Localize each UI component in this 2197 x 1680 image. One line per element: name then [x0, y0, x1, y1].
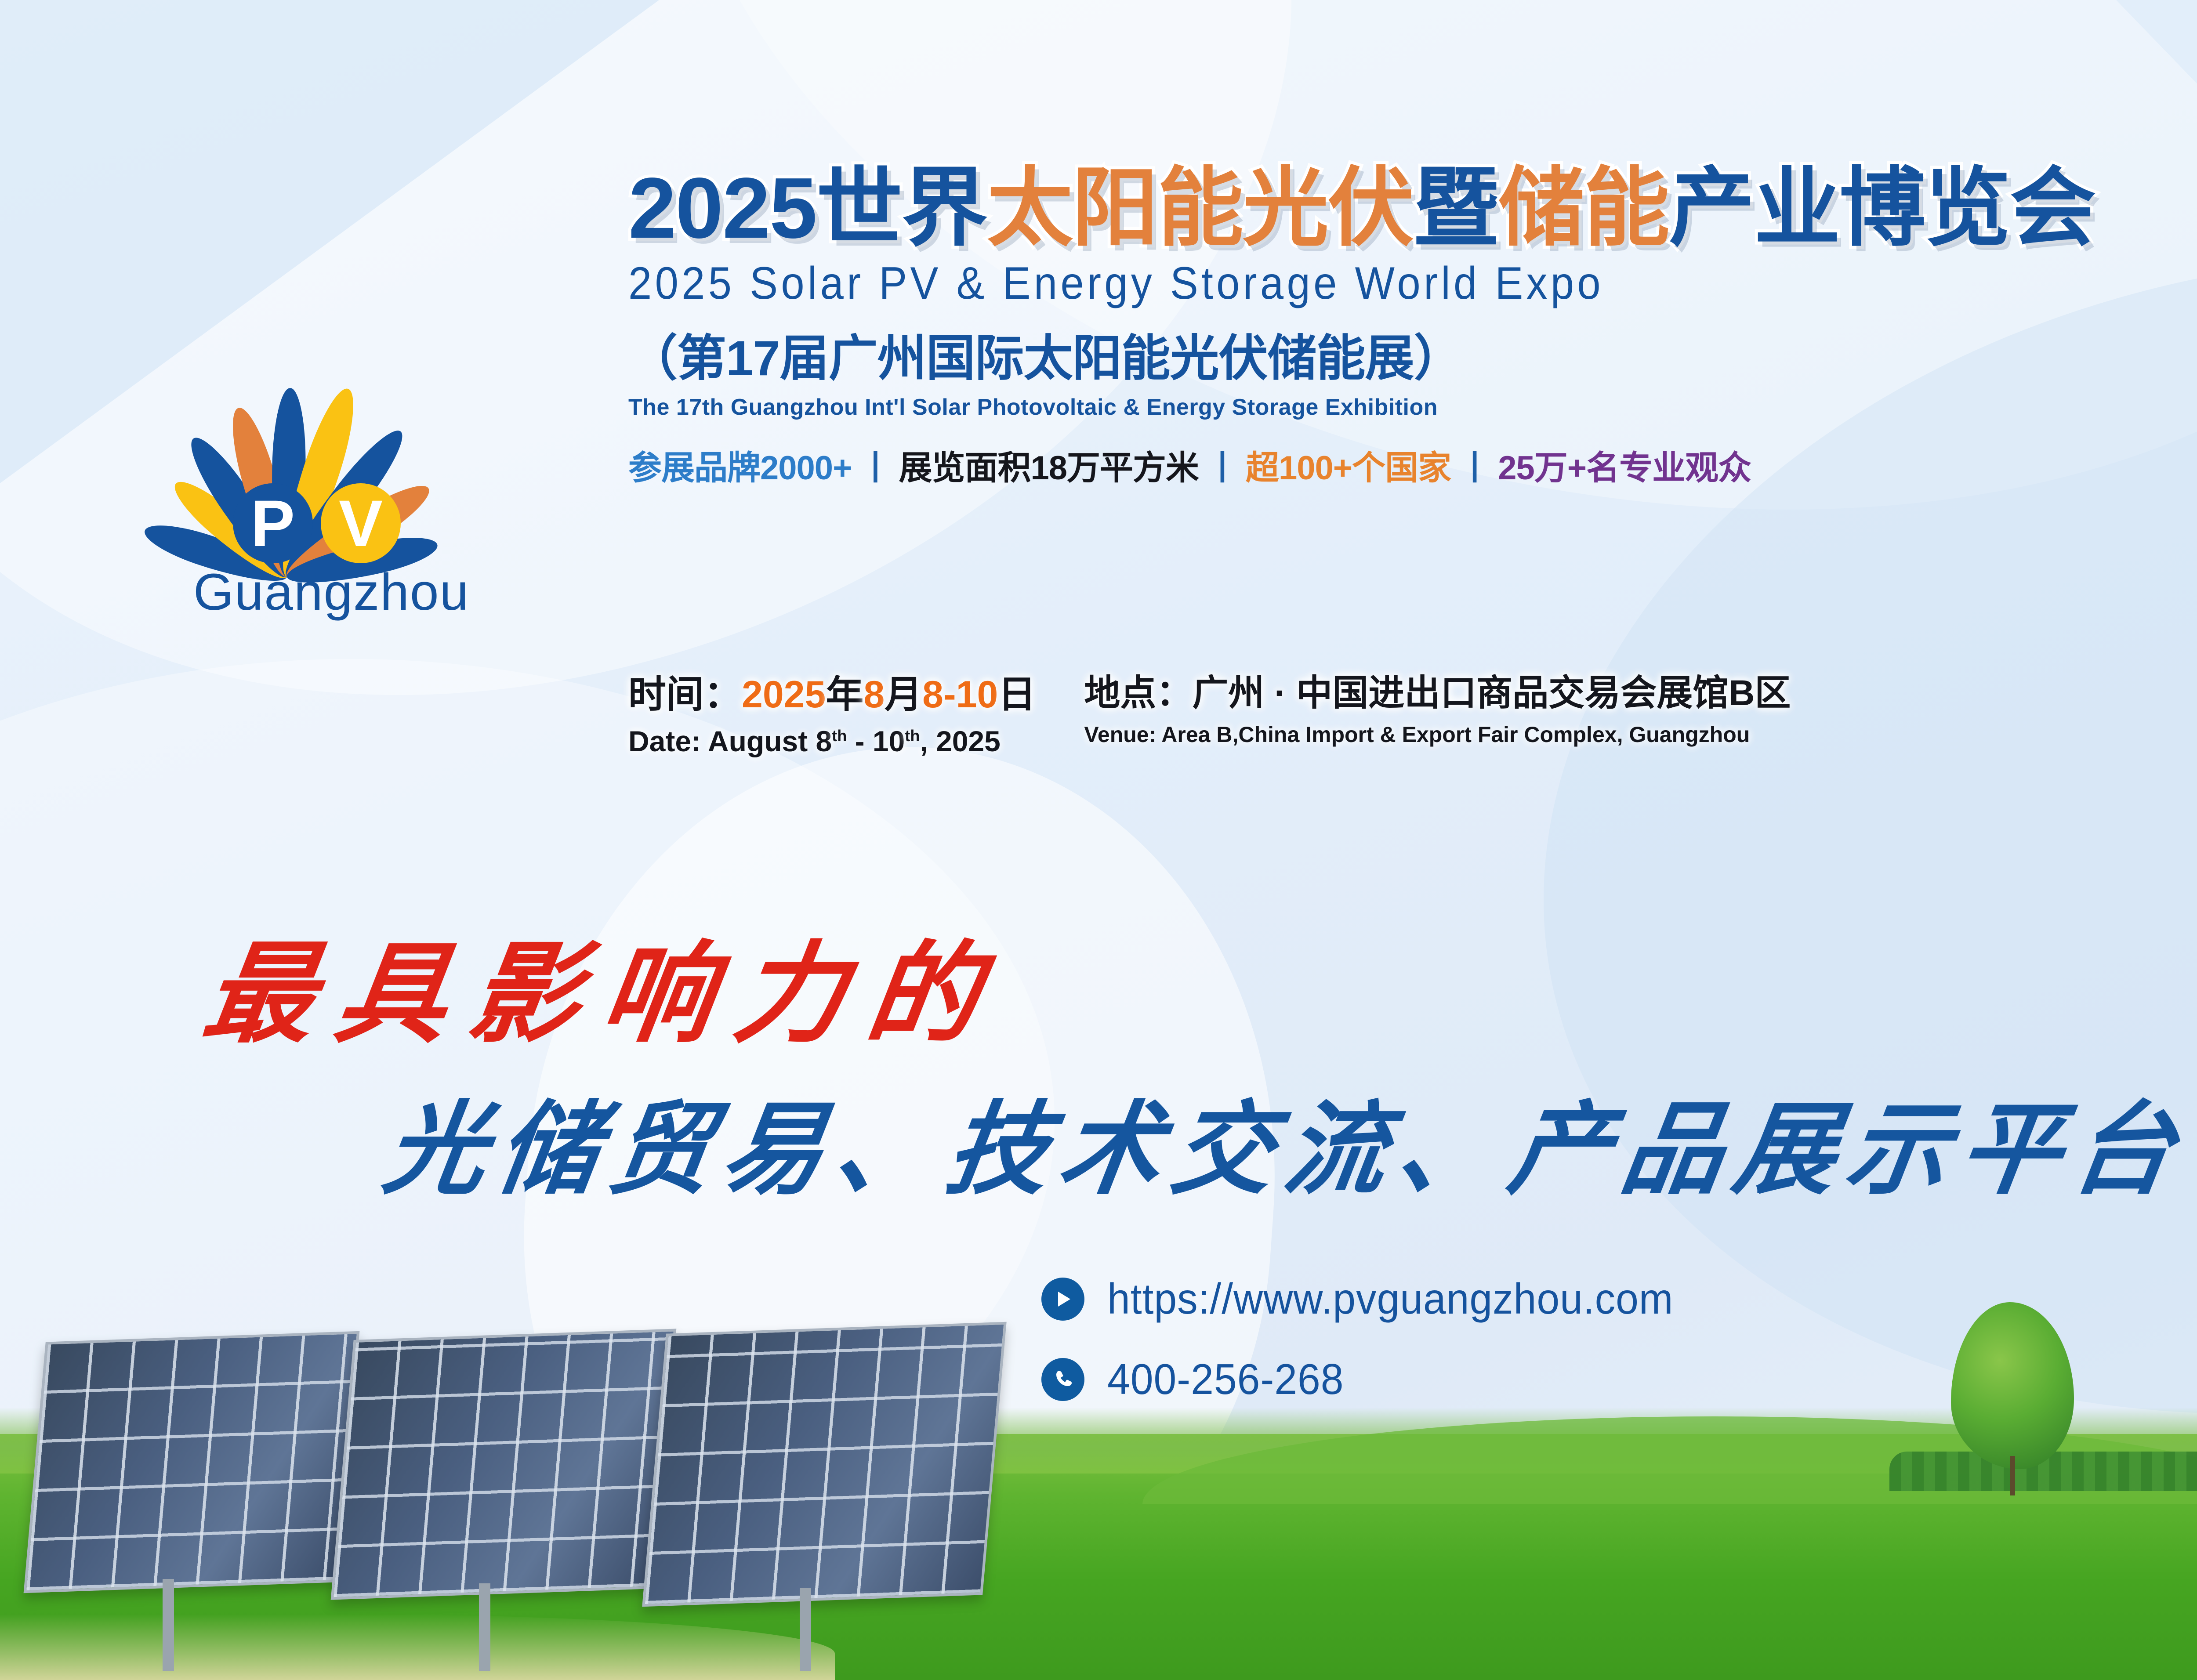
solar-panel-2	[331, 1329, 677, 1600]
date-en-sup-1: th	[832, 727, 847, 745]
date-month-unit: 月	[885, 673, 922, 716]
stats-separator-1: 丨	[852, 449, 899, 487]
main-title-cn: 2025世界太阳能光伏暨储能产业博览会	[628, 163, 2197, 254]
venue-label: 地点：	[1084, 673, 1192, 713]
solar-panel-post-3	[800, 1588, 811, 1671]
venue-line-cn: 地点：广州 · 中国进出口商品交易会展馆B区	[1084, 663, 1791, 716]
solar-panel-3	[642, 1322, 1006, 1607]
date-line-en: Date: August 8th - 10th, 2025	[628, 724, 1036, 758]
solar-panel-1	[24, 1331, 360, 1593]
date-block: 时间：2025年8月8-10日 Date: August 8th - 10th,…	[628, 663, 1036, 758]
pv-guangzhou-logo: P V Guangzhou	[48, 167, 567, 633]
logo-wordmark: Guangzhou	[193, 562, 469, 622]
date-days: 8-10	[922, 673, 998, 716]
stats-separator-2: 丨	[1199, 449, 1246, 487]
stat-visitors: 25万+名专业观众	[1498, 449, 1751, 487]
main-title-part-1: 2025世界	[628, 160, 987, 256]
venue-value: 广州 · 中国进出口商品交易会展馆B区	[1192, 673, 1791, 713]
website-row[interactable]: https://www.pvguangzhou.com	[1041, 1274, 1703, 1324]
date-year-unit: 年	[826, 673, 863, 716]
slogan-line-1: 最具影响力的	[196, 905, 1014, 1064]
date-line-cn: 时间：2025年8月8-10日	[628, 663, 1036, 718]
main-title-part-3: 暨	[1413, 160, 1498, 256]
solar-panel-post-1	[163, 1579, 174, 1671]
date-en-sup-2: th	[905, 727, 920, 745]
main-title-part-4: 储能	[1498, 160, 1669, 256]
stat-countries: 超100+个国家	[1246, 449, 1451, 487]
date-en-prefix: Date: August 8	[628, 725, 832, 757]
logo-letter-v-circle: V	[321, 483, 401, 563]
logo-letter-v: V	[339, 485, 383, 561]
date-en-mid: - 10	[847, 725, 905, 757]
subtitle-en: The 17th Guangzhou Int'l Solar Photovolt…	[628, 394, 2197, 420]
venue-line-en: Venue: Area B,China Import & Export Fair…	[1084, 722, 1791, 747]
headline-block: 2025世界太阳能光伏暨储能产业博览会 2025 Solar PV & Ener…	[628, 163, 2197, 489]
subtitle-cn: （第17届广州国际太阳能光伏储能展）	[628, 319, 2197, 390]
date-month: 8	[863, 673, 885, 716]
tree-left	[1947, 1302, 2078, 1495]
logo-letter-p: P	[251, 485, 295, 561]
phone-row[interactable]: 400-256-268	[1041, 1354, 1703, 1404]
solar-panel-array	[9, 1320, 1011, 1671]
play-triangle-icon	[1041, 1278, 1084, 1321]
slogan-line-2: 光储贸易、技术交流、产品展示平台！	[377, 1068, 2197, 1214]
date-year: 2025	[742, 673, 826, 716]
date-venue-block: 时间：2025年8月8-10日 Date: August 8th - 10th,…	[628, 663, 2197, 758]
main-title-part-2: 太阳能光伏	[987, 160, 1413, 256]
stats-row: 参展品牌2000+丨展览面积18万平方米丨超100+个国家丨25万+名专业观众	[628, 441, 2197, 489]
stat-area: 展览面积18万平方米	[899, 449, 1199, 487]
website-text[interactable]: https://www.pvguangzhou.com	[1107, 1274, 1673, 1324]
main-title-en: 2025 Solar PV & Energy Storage World Exp…	[628, 257, 2197, 310]
stat-brands: 参展品牌2000+	[628, 449, 852, 487]
logo-letter-p-circle: P	[233, 483, 313, 563]
venue-block: 地点：广州 · 中国进出口商品交易会展馆B区 Venue: Area B,Chi…	[1084, 663, 1791, 758]
solar-panel-post-2	[479, 1583, 490, 1671]
contact-block: https://www.pvguangzhou.com 400-256-268	[1041, 1274, 1703, 1435]
date-day-unit: 日	[998, 673, 1036, 716]
date-label: 时间：	[628, 673, 742, 716]
main-title-part-5: 产业博览会	[1669, 160, 2095, 256]
poster-canvas: P V Guangzhou 2025世界太阳能光伏暨储能产业博览会 2025 S…	[0, 0, 2197, 1680]
phone-text[interactable]: 400-256-268	[1107, 1354, 1344, 1404]
date-en-suffix: , 2025	[920, 725, 1001, 757]
telephone-icon	[1041, 1358, 1084, 1401]
stats-separator-3: 丨	[1451, 449, 1498, 487]
